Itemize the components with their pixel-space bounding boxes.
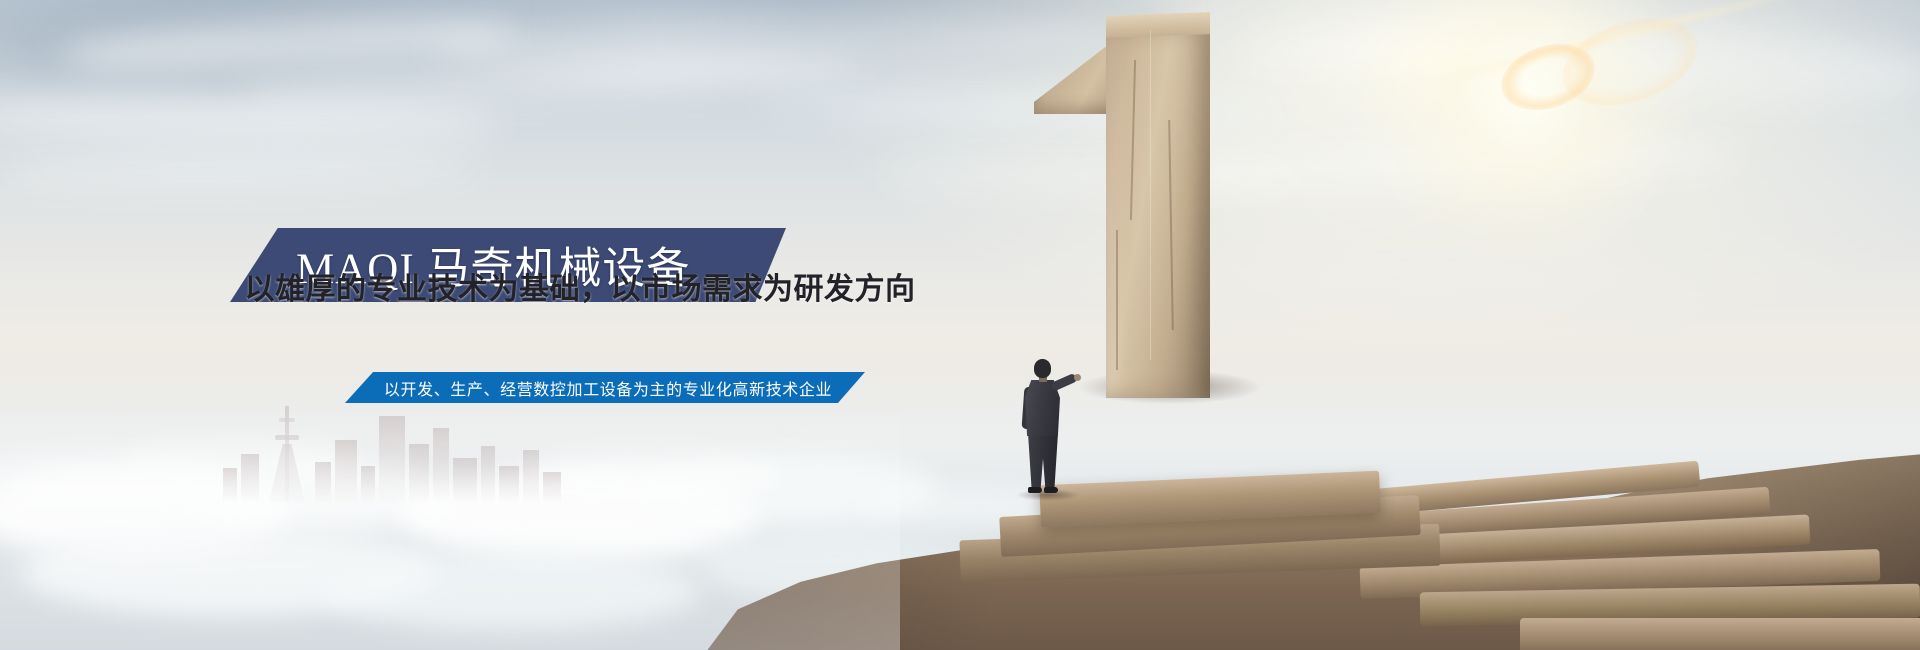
stone-crack bbox=[1116, 230, 1118, 370]
businessman-figure bbox=[1012, 359, 1074, 495]
figure-legs bbox=[1028, 433, 1058, 489]
cloud-puff bbox=[320, 552, 700, 630]
numeral-one-stem bbox=[1106, 28, 1210, 398]
building bbox=[409, 444, 429, 502]
building bbox=[523, 450, 539, 502]
building bbox=[335, 440, 357, 502]
tagline-band: 以开发、生产、经营数控加工设备为主的专业化高新技术企业 bbox=[345, 372, 865, 403]
building bbox=[543, 472, 561, 502]
tower-platform bbox=[275, 435, 299, 440]
subtitle-wrapper: 以雄厚的专业技术为基础，以市场需求为研发方向 bbox=[230, 264, 930, 308]
building bbox=[315, 462, 331, 502]
tagline-text: 以开发、生产、经营数控加工设备为主的专业化高新技术企业 bbox=[384, 376, 832, 400]
building bbox=[241, 454, 259, 502]
figure-shoe bbox=[1044, 487, 1058, 493]
hero-banner: MAQI 马奇机械设备 以雄厚的专业技术为基础，以市场需求为研发方向 以开发、生… bbox=[0, 0, 1920, 650]
stone-highlight bbox=[1150, 30, 1151, 360]
figure-head bbox=[1034, 359, 1051, 378]
building bbox=[379, 416, 405, 502]
figure-hand bbox=[1074, 374, 1081, 381]
subtitle-text: 以雄厚的专业技术为基础，以市场需求为研发方向 bbox=[230, 264, 930, 308]
tower-platform bbox=[279, 418, 295, 422]
numeral-one-top bbox=[1106, 12, 1210, 38]
building bbox=[453, 458, 477, 502]
rock-ledge bbox=[1520, 618, 1920, 650]
building bbox=[223, 468, 237, 502]
building bbox=[361, 466, 375, 502]
stone-numeral-one-monument bbox=[1020, 0, 1240, 420]
building bbox=[433, 428, 449, 502]
building bbox=[481, 446, 495, 502]
figure-shoe bbox=[1028, 487, 1042, 493]
building bbox=[499, 466, 519, 502]
